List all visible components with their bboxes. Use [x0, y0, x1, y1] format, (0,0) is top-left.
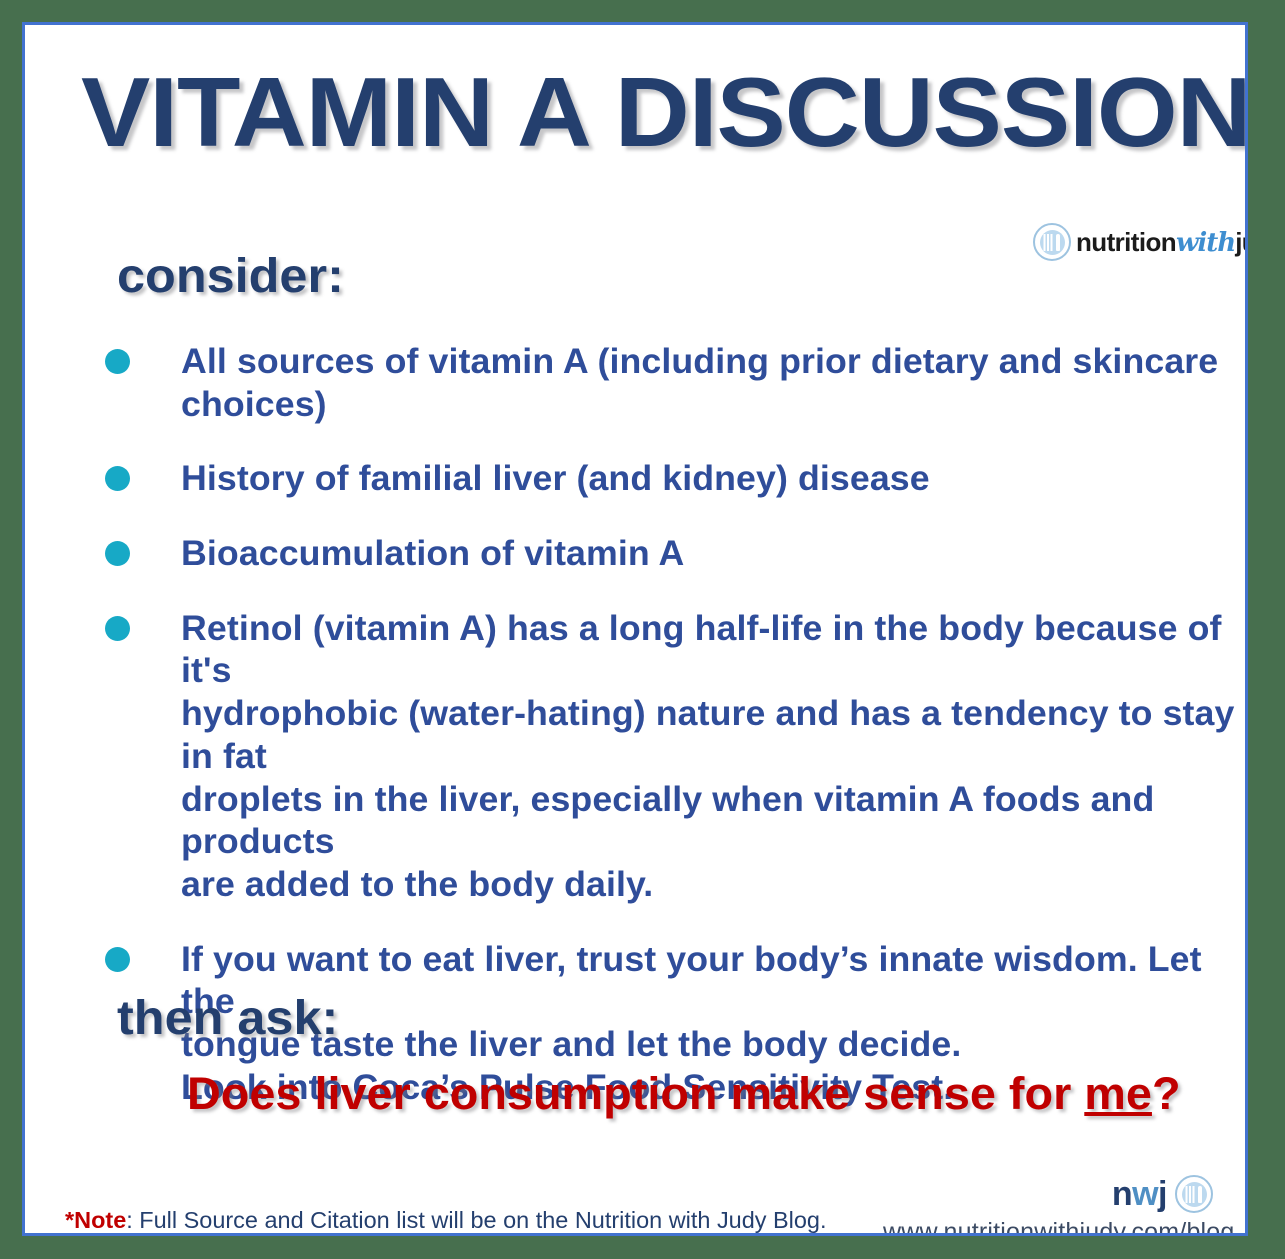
brand-word-with: with	[1176, 228, 1235, 258]
page-title: VITAMIN A DISCUSSION	[81, 63, 1248, 163]
list-item-text: Bioaccumulation of vitamin A	[181, 533, 684, 576]
question-text-before: Does liver consumption make sense for	[187, 1068, 1084, 1119]
bullet-dot-icon	[105, 466, 130, 491]
nwj-wordmark: nwj	[1112, 1177, 1167, 1211]
nwj-logo: nwj	[883, 1175, 1213, 1213]
question-text-after: ?	[1152, 1068, 1181, 1119]
bullet-dot-icon	[105, 541, 130, 566]
bullet-dot-icon	[105, 616, 130, 641]
brand-word-nutrition: nutrition	[1076, 227, 1176, 257]
question-emphasis: me	[1084, 1068, 1152, 1119]
fork-knife-circle-icon	[1175, 1175, 1213, 1213]
bullet-dot-icon	[105, 947, 130, 972]
nwj-letter-n: n	[1112, 1175, 1132, 1213]
key-question: Does liver consumption make sense for me…	[187, 1071, 1181, 1116]
infographic-card: VITAMIN A DISCUSSION nutritionwithjudy c…	[22, 22, 1248, 1236]
list-item: Bioaccumulation of vitamin A	[105, 533, 1225, 576]
list-item-text: All sources of vitamin A (including prio…	[181, 341, 1246, 426]
brand-wordmark: nutritionwithjudy	[1076, 229, 1248, 256]
bullet-dot-icon	[105, 349, 130, 374]
nwj-letter-j: j	[1158, 1175, 1167, 1213]
fork-knife-circle-icon	[1033, 223, 1071, 261]
brand-logo-bottom: nwj www.nutritionwithjudy.com/blog	[883, 1175, 1213, 1236]
brand-word-judy: judy	[1235, 227, 1248, 257]
list-item: Retinol (vitamin A) has a long half-life…	[105, 608, 1225, 907]
nwj-letter-w: w	[1132, 1175, 1158, 1213]
footnote: *Note: Full Source and Citation list wil…	[65, 1209, 826, 1232]
list-item: All sources of vitamin A (including prio…	[105, 341, 1225, 426]
list-item: History of familial liver (and kidney) d…	[105, 458, 1225, 501]
list-item-text: History of familial liver (and kidney) d…	[181, 458, 930, 501]
footnote-marker: *Note	[65, 1207, 126, 1233]
list-item-text: Retinol (vitamin A) has a long half-life…	[181, 608, 1246, 907]
heading-consider: consider:	[117, 253, 344, 301]
website-url[interactable]: www.nutritionwithjudy.com/blog	[883, 1220, 1213, 1236]
brand-logo-top: nutritionwithjudy	[1033, 223, 1248, 261]
footnote-text: : Full Source and Citation list will be …	[126, 1207, 826, 1233]
heading-then-ask: then ask:	[117, 995, 338, 1043]
